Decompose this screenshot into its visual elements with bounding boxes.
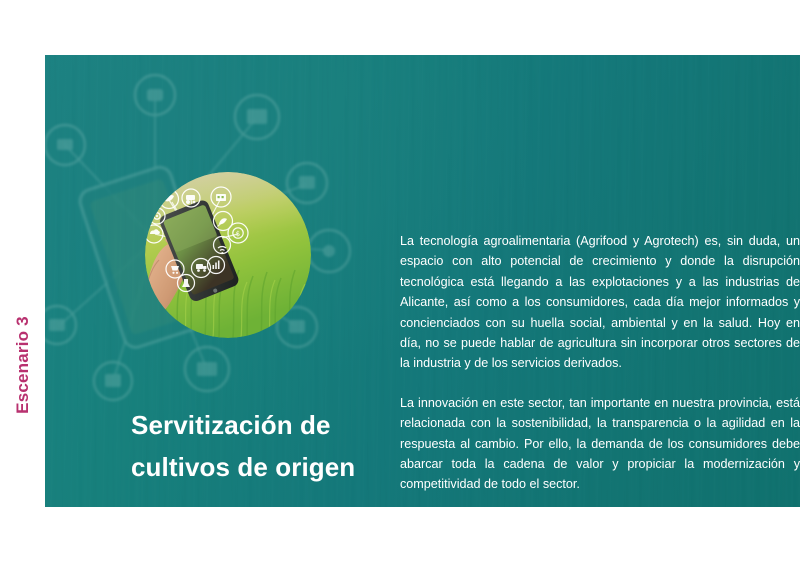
circle-photo-agritech: $	[145, 172, 311, 338]
slide-canvas: Escenario 3	[0, 0, 800, 565]
body-paragraph-2: La innovación en este sector, tan import…	[400, 393, 800, 495]
body-paragraph-1: La tecnología agroalimentaria (Agrifood …	[400, 231, 800, 374]
content-panel: $	[45, 55, 800, 507]
scenario-label-text: Escenario 3	[13, 316, 33, 414]
slide-headline: Servitización de cultivos de origen	[131, 404, 391, 488]
svg-text:$: $	[236, 230, 240, 238]
scenario-label: Escenario 3	[2, 355, 44, 505]
body-copy: La tecnología agroalimentaria (Agrifood …	[400, 231, 800, 495]
